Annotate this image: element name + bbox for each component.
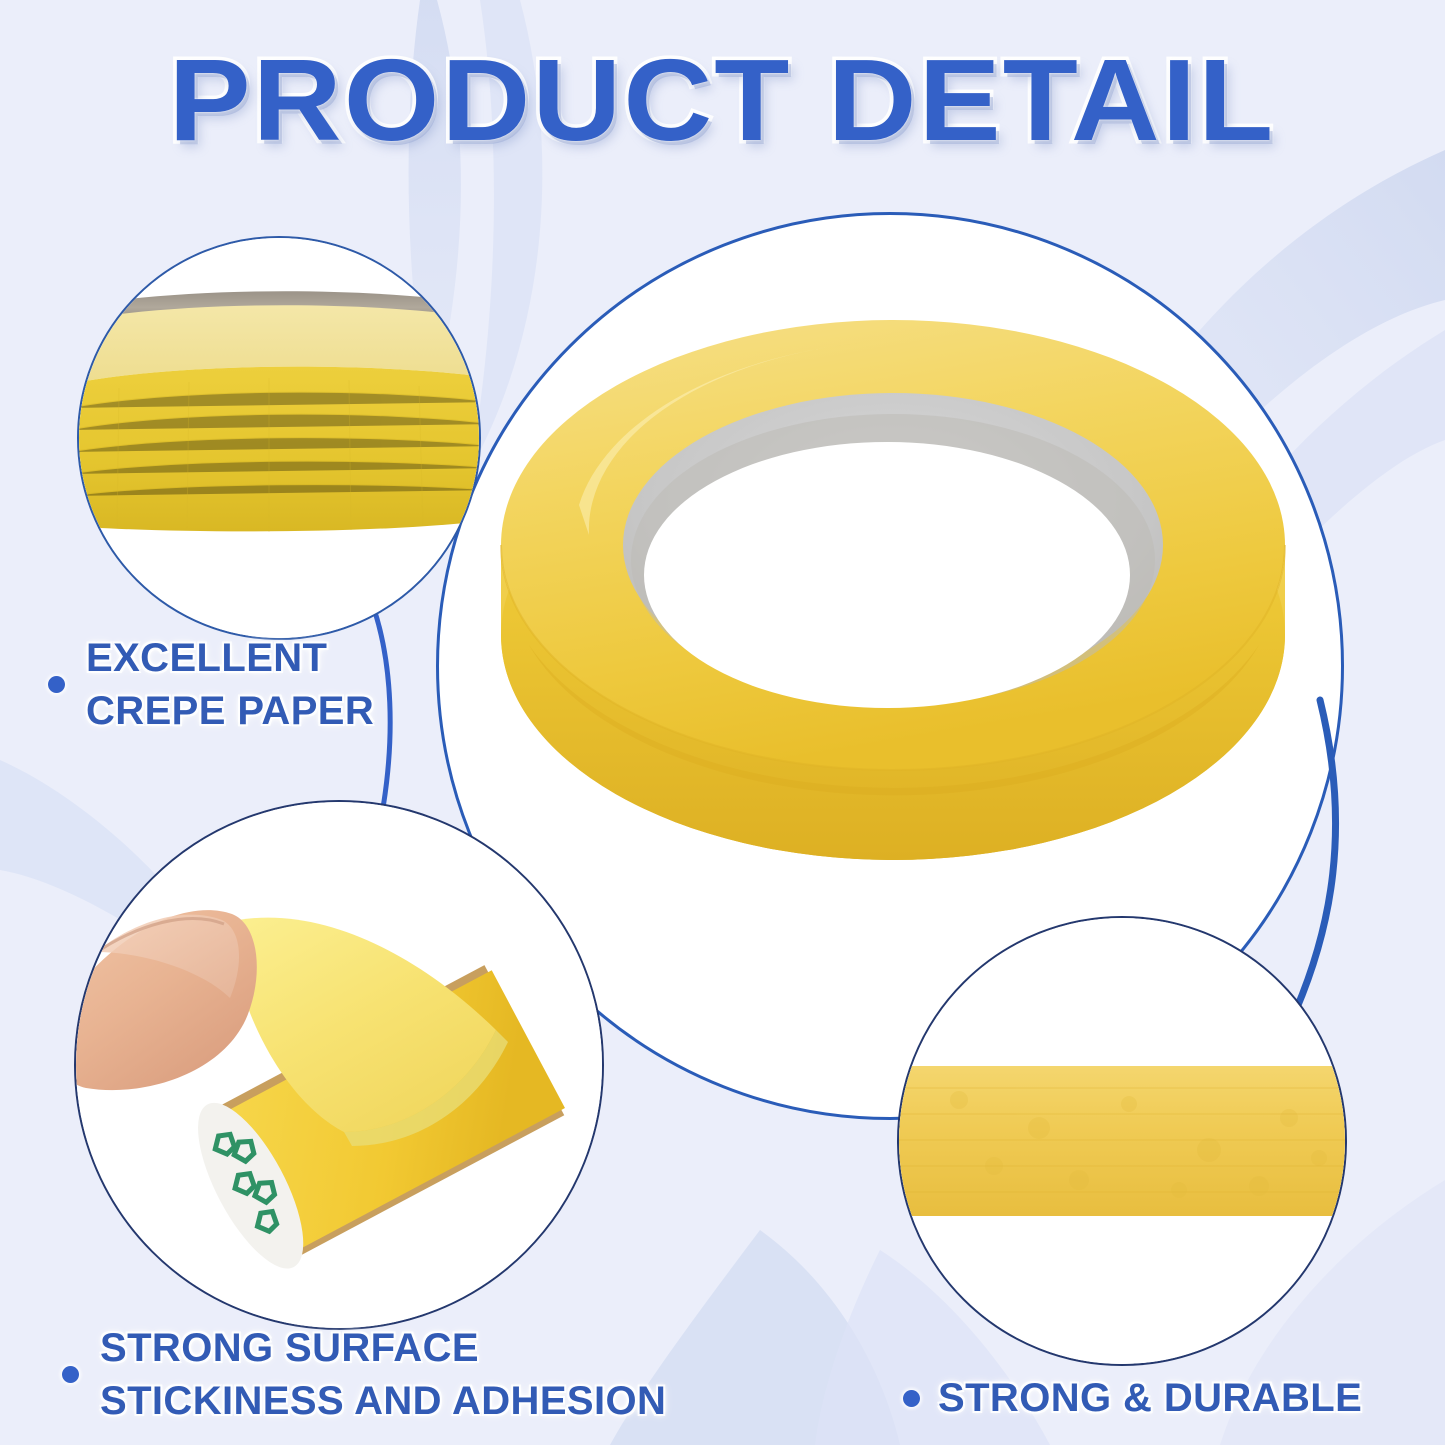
- detail-circle-crepe-paper: [77, 236, 481, 640]
- page-title-wrapper: PRODUCT DETAIL: [0, 42, 1445, 158]
- bullet-icon: [48, 676, 65, 693]
- peeling-tape-closeup: [76, 802, 604, 1330]
- feature-label-crepe-paper: EXCELLENT CREPE PAPER: [48, 632, 374, 738]
- crepe-paper-closeup: [79, 238, 481, 640]
- page-title: PRODUCT DETAIL: [169, 42, 1276, 158]
- detail-circle-stickiness: [74, 800, 604, 1330]
- tape-roll-hole: [644, 442, 1130, 708]
- bullet-icon: [62, 1366, 79, 1383]
- feature-label-durable: STRONG & DURABLE: [903, 1372, 1362, 1425]
- infographic-canvas: PRODUCT DETAIL EXCELLENT CREPE PAPER STR…: [0, 0, 1445, 1445]
- detail-circle-durable: [897, 916, 1347, 1366]
- feature-label-text: STRONG & DURABLE: [938, 1372, 1362, 1425]
- tape-strip-closeup: [899, 918, 1347, 1366]
- bullet-icon: [903, 1390, 920, 1407]
- feature-label-text: STRONG SURFACE STICKINESS AND ADHESION: [100, 1322, 666, 1428]
- feature-label-text: EXCELLENT CREPE PAPER: [86, 632, 374, 738]
- feature-label-stickiness: STRONG SURFACE STICKINESS AND ADHESION: [62, 1322, 666, 1428]
